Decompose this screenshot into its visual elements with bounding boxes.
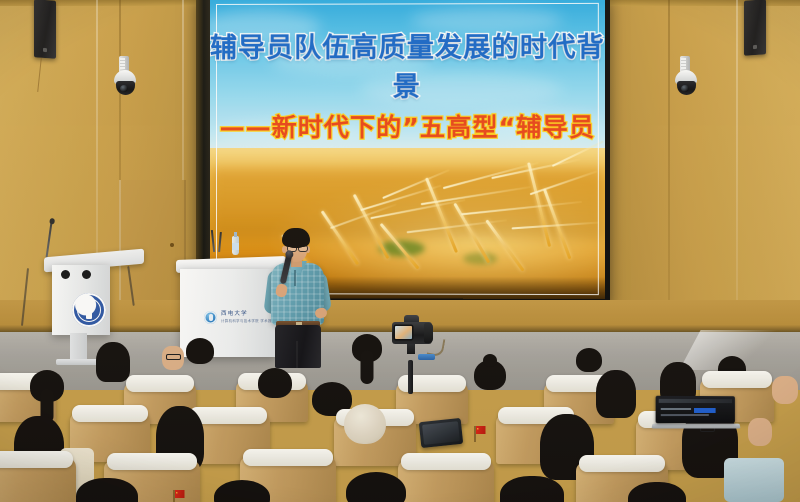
dslr-camera-on-tripod: [384, 314, 440, 390]
audience-head: [352, 334, 382, 362]
wall-speaker-right: [744, 0, 766, 56]
audience-head: [474, 360, 506, 390]
audience-head: [186, 338, 214, 364]
slide-title: 辅导员队伍高质量发展的时代背景: [210, 25, 605, 104]
audience-head: [30, 370, 64, 402]
camera-mount-plate: [418, 354, 435, 360]
door-knob-icon[interactable]: [170, 243, 174, 247]
lectern-logo-name: 西电大学: [221, 309, 248, 317]
audience-seat[interactable]: [0, 458, 76, 502]
lectern-knob-icon: [82, 270, 91, 279]
wall-seam: [736, 0, 738, 306]
wall-speaker-left: [34, 0, 56, 59]
university-seal-icon: [72, 293, 106, 327]
audience-hat: [344, 404, 386, 444]
audience-head: [628, 482, 686, 502]
audience-head: [772, 376, 798, 404]
audience-head: [596, 370, 636, 418]
audience-body: [724, 458, 784, 502]
speaker-led-icon: [753, 45, 757, 49]
lecture-hall-screenshot: 辅导员队伍高质量发展的时代背景 ——新时代下的”五高型“辅导员 西电大学 计算机…: [0, 0, 800, 502]
audience-tablet[interactable]: [419, 418, 463, 448]
speaker-led-icon: [43, 48, 47, 52]
university-badge-icon: [204, 311, 217, 324]
wall-seam: [668, 0, 670, 306]
presenter-gesturing-hand: [314, 307, 328, 320]
ptz-camera-right-icon: [675, 56, 697, 98]
audience-head: [500, 476, 564, 502]
audience-laptop[interactable]: [656, 396, 742, 436]
lectern-knob-icon: [61, 270, 70, 279]
ptz-camera-left-icon: [114, 56, 136, 98]
camera-lcd-screen: [395, 326, 412, 339]
water-bottle: [232, 236, 239, 255]
audience-glasses-icon: [166, 354, 181, 360]
presenter-hair: [282, 228, 310, 247]
laptop-screen: [656, 396, 735, 424]
audience-head: [96, 342, 130, 382]
laptop-selection-highlight: [694, 408, 716, 413]
audience-head: [748, 418, 772, 446]
slide-subtitle: ——新时代下的”五高型“辅导员: [210, 108, 605, 144]
audience-head: [258, 368, 292, 398]
audience-head: [576, 348, 602, 372]
audience-head: [346, 472, 406, 502]
right-wall-panel: [608, 0, 800, 306]
audience-seat[interactable]: [398, 460, 494, 502]
